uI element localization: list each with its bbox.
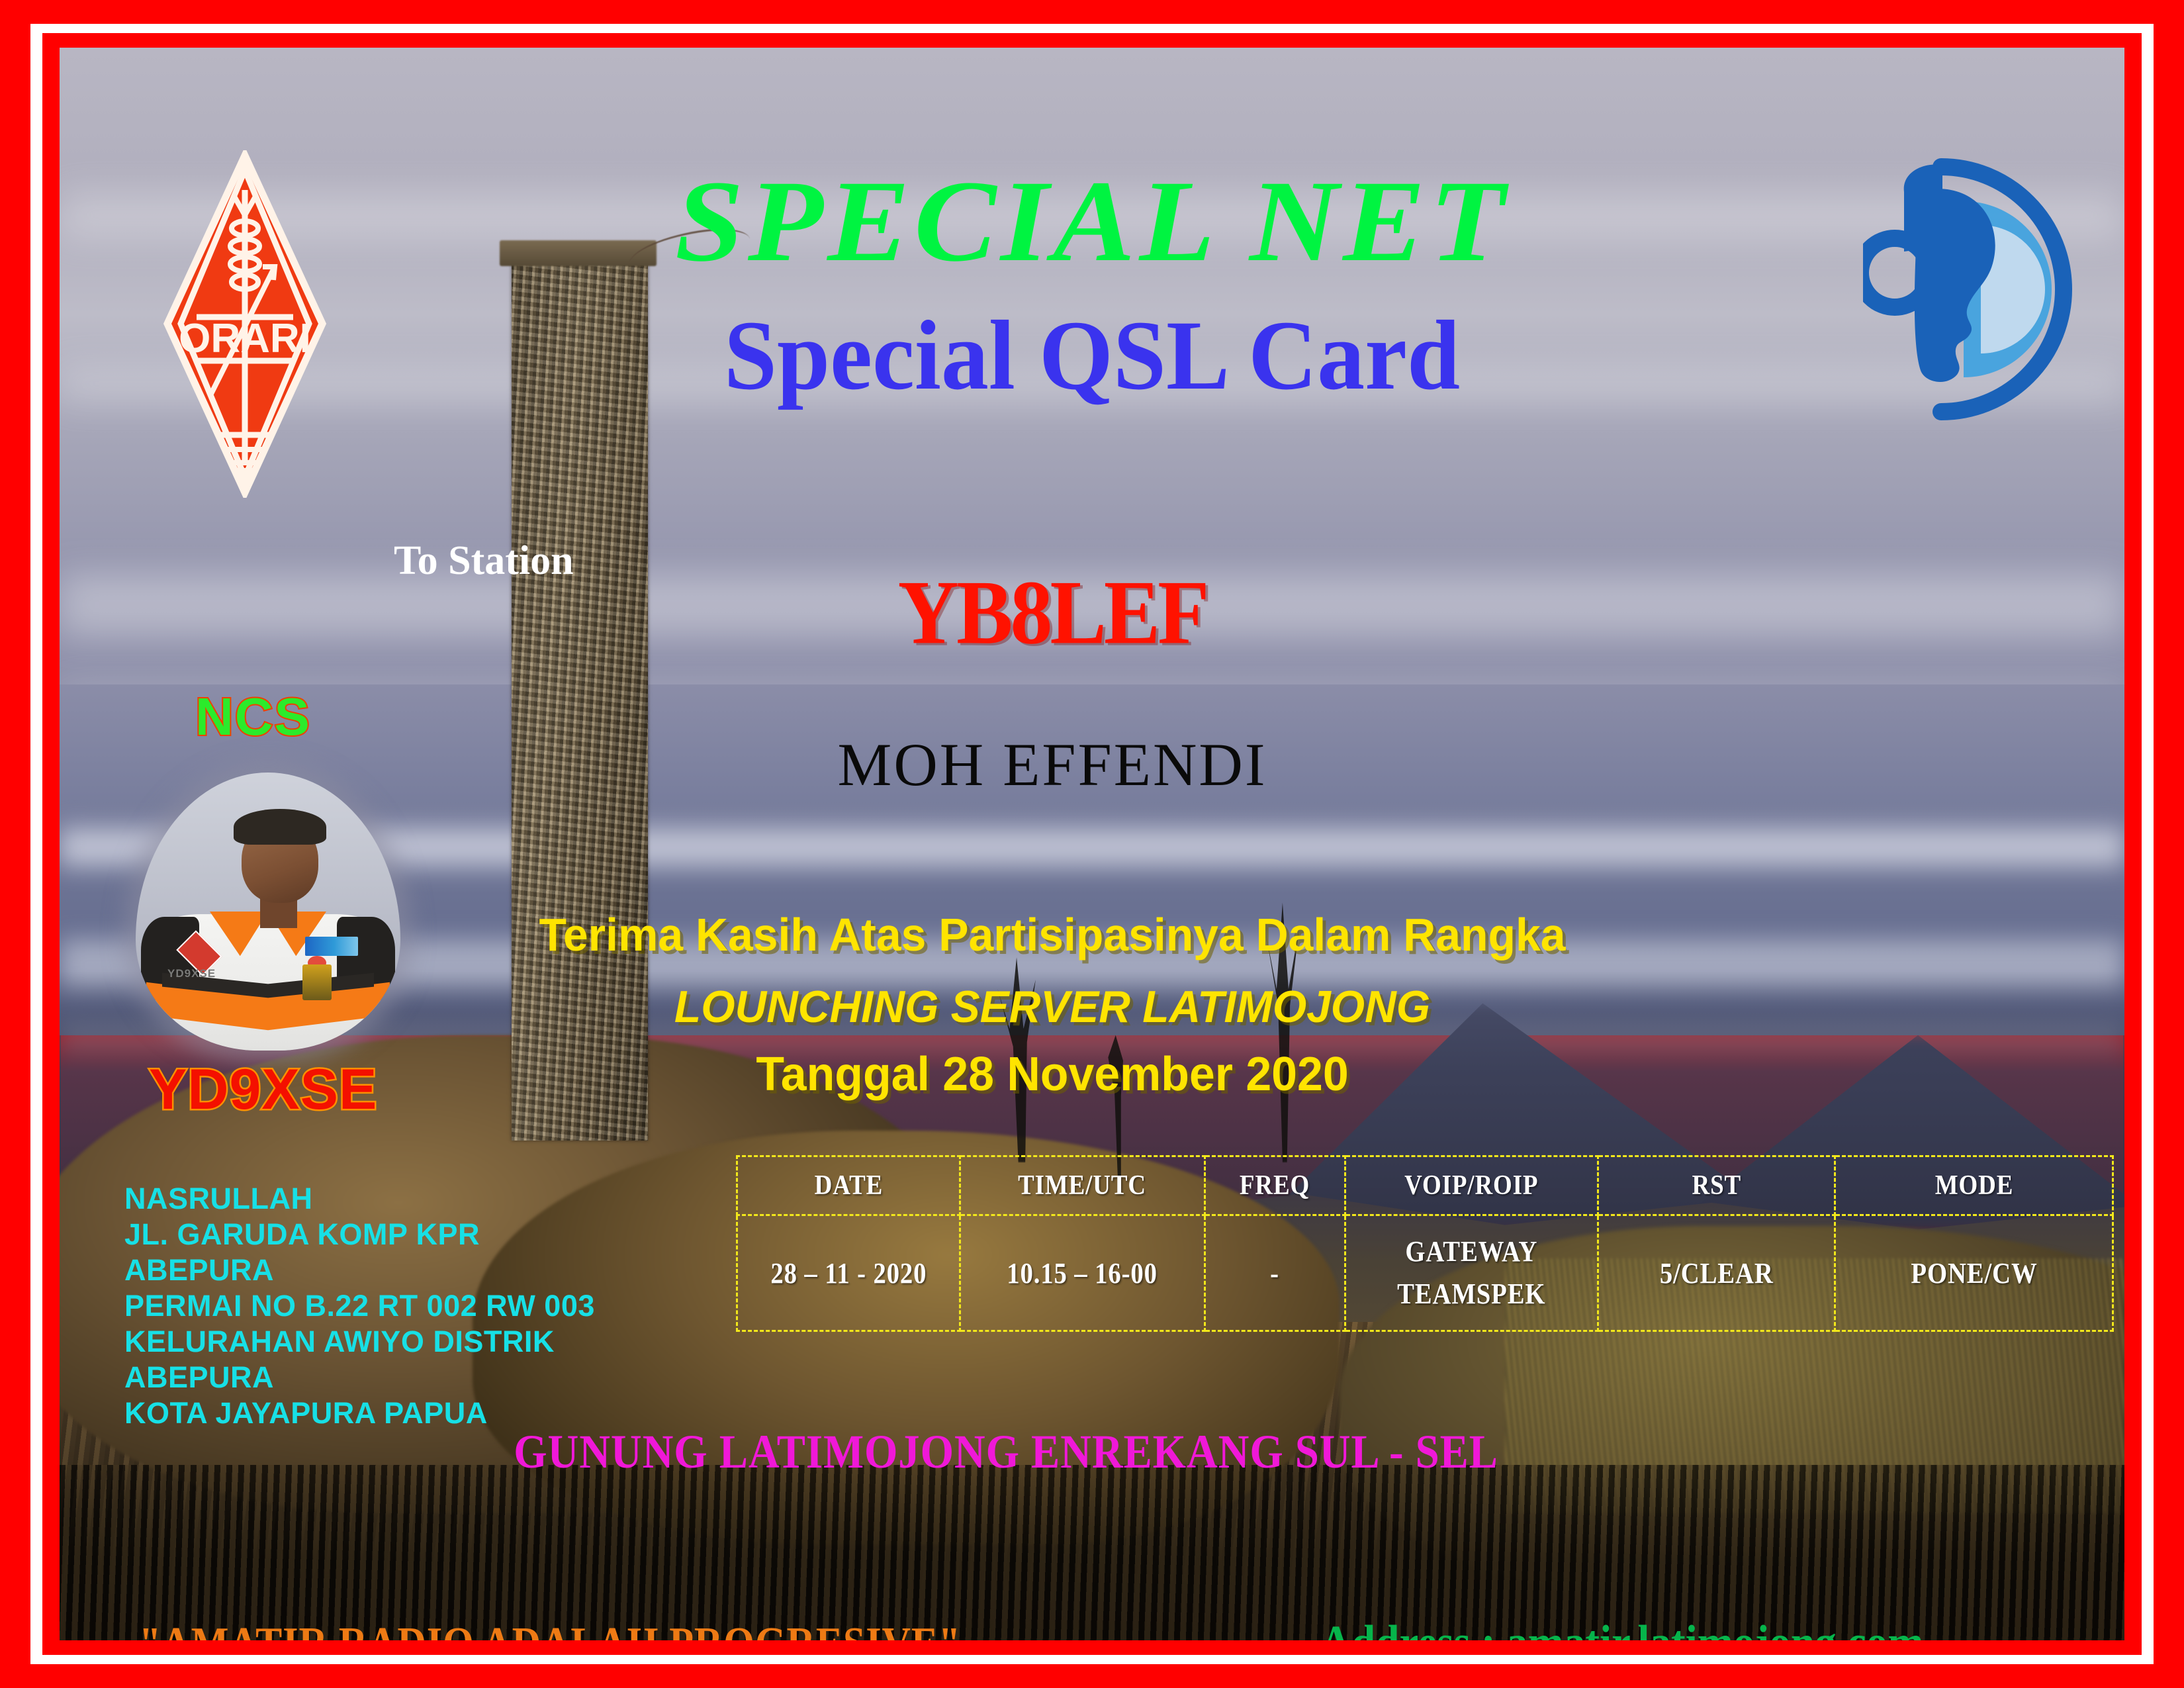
- station-callsign: YB8LEF: [60, 560, 2085, 665]
- card-inner-red-border: ORARI: [42, 33, 2142, 1655]
- address-line: NASRULLAH: [124, 1181, 595, 1217]
- qsl-card: ORARI: [0, 0, 2184, 1688]
- column-header-voip: VOIP/ROIP: [1360, 1156, 1583, 1215]
- address-line: ABEPURA: [124, 1252, 595, 1288]
- column-header-mode: MODE: [1852, 1156, 2097, 1215]
- cell-voip: GATEWAY TEAMSPEK: [1360, 1215, 1583, 1331]
- column-header-rst: RST: [1612, 1156, 1821, 1215]
- ncs-operator-photo: YD9XSE: [136, 773, 400, 1051]
- ncs-label: NCS: [195, 686, 311, 747]
- table-header-row: DATE TIME/UTC FREQ VOIP/ROIP RST MODE: [737, 1156, 2113, 1215]
- uniform-callsign-text: YD9XSE: [167, 967, 216, 980]
- cell-mode: PONE/CW: [1852, 1215, 2097, 1331]
- page-subtitle: Special QSL Card: [101, 306, 2083, 405]
- column-header-date: DATE: [751, 1156, 946, 1215]
- table-row: 28 – 11 - 2020 10.15 – 16-00 - GATEWAY T…: [737, 1215, 2113, 1331]
- web-address: Address : amatir.latimojong.com: [1320, 1615, 1924, 1640]
- card-white-gap: ORARI: [30, 24, 2154, 1664]
- station-address: NASRULLAH JL. GARUDA KOMP KPR ABEPURA PE…: [124, 1181, 595, 1431]
- address-line: ABEPURA: [124, 1360, 595, 1395]
- address-line: PERMAI NO B.22 RT 002 RW 003: [124, 1288, 595, 1324]
- cell-rst: 5/CLEAR: [1612, 1215, 1821, 1331]
- column-header-freq: FREQ: [1213, 1156, 1337, 1215]
- card-background-photo: ORARI: [60, 48, 2124, 1640]
- cell-time: 10.15 – 16-00: [974, 1215, 1190, 1331]
- qso-log-table: DATE TIME/UTC FREQ VOIP/ROIP RST MODE 28…: [736, 1155, 2114, 1332]
- column-header-time: TIME/UTC: [974, 1156, 1190, 1215]
- address-line: KELURAHAN AWIYO DISTRIK: [124, 1324, 595, 1360]
- cell-date: 28 – 11 - 2020: [751, 1215, 946, 1331]
- address-line: JL. GARUDA KOMP KPR: [124, 1217, 595, 1252]
- page-title: SPECIAL NET: [60, 164, 2124, 280]
- location-line: GUNUNG LATIMOJONG ENREKANG SUL - SEL: [77, 1425, 1935, 1479]
- ncs-callsign: YD9XSE: [149, 1057, 377, 1123]
- cell-freq: -: [1213, 1215, 1337, 1331]
- motto-text: "AMATIR RADIO ADALAH PROGRESIVE": [139, 1618, 961, 1640]
